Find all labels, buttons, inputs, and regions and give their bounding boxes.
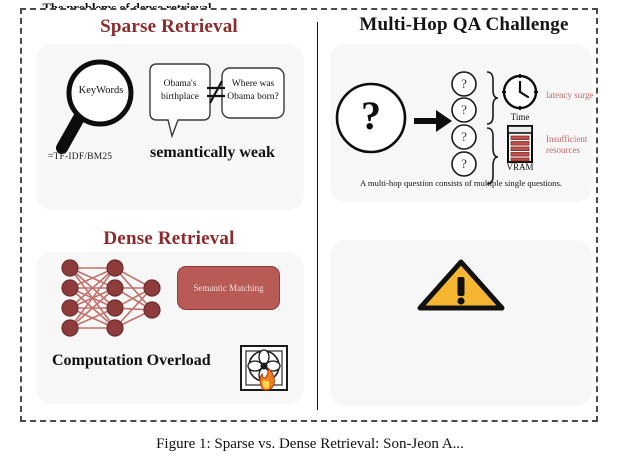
time-label: Time [502,112,538,122]
sub-question-glyph-2: ? [452,102,476,118]
dense-retrieval-title: Dense Retrieval [34,228,304,250]
sub-question-glyph-4: ? [452,156,476,172]
column-divider [317,22,318,410]
magnifier-label: KeyWords [72,85,130,96]
main-question-glyph: ? [347,96,395,136]
figure-root: Sparse Retrieval Dense Retrieval Multi-H… [0,0,620,456]
multihop-qa-title: Multi-Hop QA Challenge [330,14,598,36]
warning-panel [330,240,592,406]
computation-overload-label: Computation Overload [52,352,211,370]
insufficient-resources-note: Insufficient resources [546,134,616,157]
tfidf-bm25-label: =TF-IDF/BM25 [48,152,112,162]
figure-caption: Figure 1: Sparse vs. Dense Retrieval: So… [18,436,602,453]
latency-surge-note: latency surge [546,90,612,101]
bubble-right-text: Where was Obama born? [224,78,282,104]
vram-label: VRAM [498,162,542,172]
multihop-caption: A multi-hop question consists of multipl… [330,178,592,188]
semantically-weak-label: semantically weak [150,144,275,162]
sub-question-glyph-3: ? [452,129,476,145]
bubble-left-text: Obama's birthplace [152,78,208,104]
sub-question-glyph-1: ? [452,76,476,92]
sparse-retrieval-panel [36,44,304,210]
semantic-matching-box: Semantic Matching [177,266,280,310]
sparse-retrieval-title: Sparse Retrieval [34,16,304,38]
